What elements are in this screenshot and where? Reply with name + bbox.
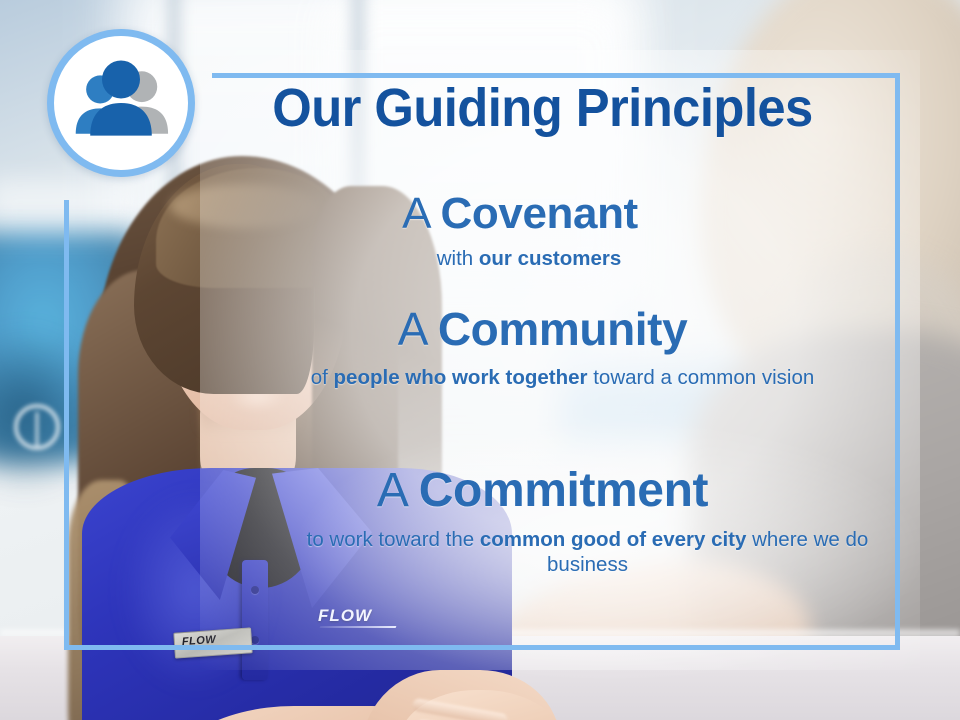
principle-keyword: Covenant [441,189,638,238]
principle-title: A Community [205,305,880,355]
page-title: Our Guiding Principles [225,80,860,137]
principle-subtitle: to work toward the common good of every … [205,527,880,578]
sub-part-bold: people who work together [334,366,588,389]
principle-commitment: A Commitment to work toward the common g… [205,465,880,578]
frame-border-right [895,73,900,650]
principle-lead: A [402,189,440,238]
sub-part: to work toward the [307,528,480,551]
principle-keyword: Community [438,303,687,355]
text-content: Our Guiding Principles A Covenant with o… [205,80,880,137]
sub-part-bold: common good of every city [480,528,747,551]
shirt-flow-logo: FLOW [318,606,398,626]
principle-community: A Community of people who work together … [205,305,880,390]
principle-keyword: Commitment [419,464,708,517]
principle-subtitle: with our customers [205,246,835,272]
sub-part: of [311,366,334,389]
frame-border-left [64,200,69,650]
principle-title: A Commitment [205,465,880,517]
principle-title: A Covenant [205,190,835,238]
people-icon-badge [47,29,195,177]
guiding-principles-graphic: FLOW FLOW [0,0,960,720]
principle-lead: A [398,303,438,355]
principle-subtitle: of people who work together toward a com… [205,365,880,391]
employee-name-badge: FLOW [173,627,253,658]
principle-lead: A [377,464,419,517]
car-emblem [14,404,60,450]
people-group-icon [54,36,188,170]
polo-button [251,586,259,594]
sub-part: with [437,247,479,270]
sub-part-bold: our customers [479,247,621,270]
frame-border-bottom [64,645,900,650]
principle-covenant: A Covenant with our customers [205,190,835,271]
sub-part: toward a common vision [588,366,815,389]
polo-button [251,636,259,644]
